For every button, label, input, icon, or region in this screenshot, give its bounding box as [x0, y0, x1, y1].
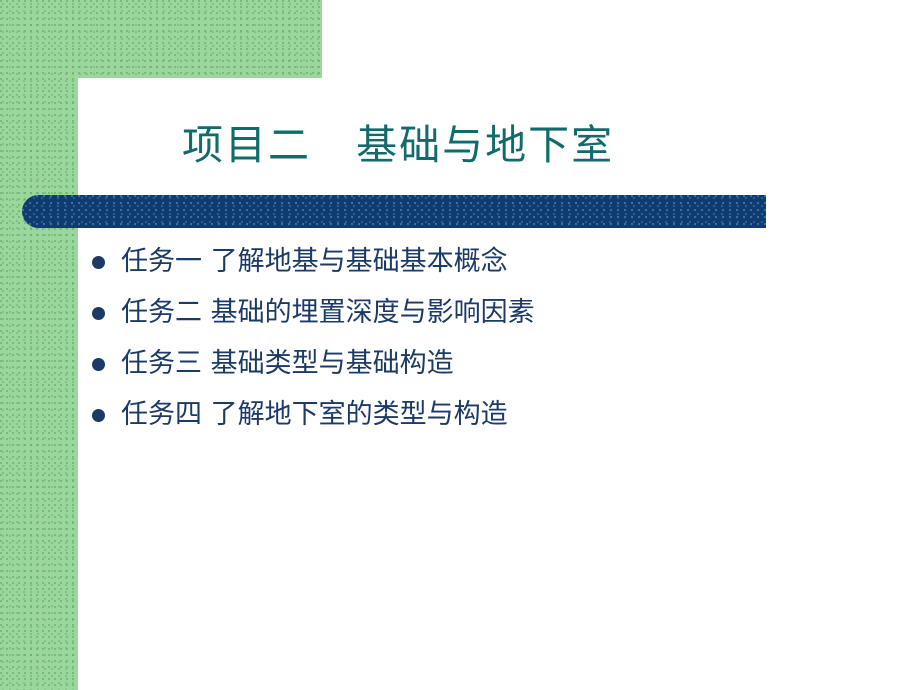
list-item-label: 任务一 了解地基与基础基本概念 [121, 242, 508, 282]
slide-title: 项目二 基础与地下室 [182, 119, 614, 171]
presentation-slide: 项目二 基础与地下室 任务一 了解地基与基础基本概念 任务二 基础的埋置深度与影… [0, 0, 920, 690]
list-item[interactable]: 任务二 基础的埋置深度与影响因素 [92, 293, 792, 344]
filled-circle-bullet-icon [92, 256, 105, 269]
filled-circle-bullet-icon [92, 358, 105, 371]
list-item-label: 任务四 了解地下室的类型与构造 [121, 395, 508, 435]
list-item[interactable]: 任务三 基础类型与基础构造 [92, 344, 792, 395]
list-item-label: 任务三 基础类型与基础构造 [121, 344, 454, 384]
list-item[interactable]: 任务一 了解地基与基础基本概念 [92, 242, 792, 293]
list-item-label: 任务二 基础的埋置深度与影响因素 [121, 293, 535, 333]
list-item[interactable]: 任务四 了解地下室的类型与构造 [92, 395, 792, 446]
green-left-band-decoration [0, 0, 78, 690]
filled-circle-bullet-icon [92, 409, 105, 422]
navy-accent-bar [22, 195, 766, 228]
filled-circle-bullet-icon [92, 307, 105, 320]
green-top-block-decoration [0, 0, 322, 78]
task-list: 任务一 了解地基与基础基本概念 任务二 基础的埋置深度与影响因素 任务三 基础类… [92, 242, 792, 446]
